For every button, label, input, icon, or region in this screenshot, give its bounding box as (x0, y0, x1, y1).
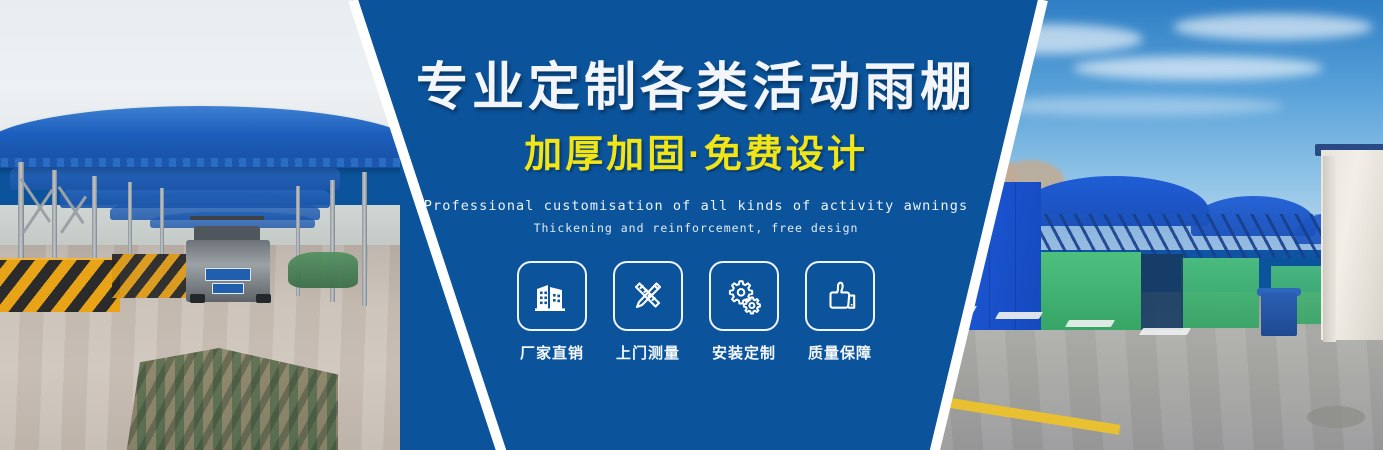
green-tarp (1029, 252, 1141, 330)
feature-icon-frame (709, 261, 779, 331)
manhole-cover (1307, 406, 1365, 428)
building-icon (532, 276, 572, 316)
subheadline-title: 加厚加固·免费设计 (524, 136, 868, 174)
license-plate (205, 268, 251, 281)
feature-label: 安装定制 (712, 342, 776, 363)
gears-icon (724, 276, 764, 316)
safety-barrier (0, 258, 120, 312)
feature-item-quality-guarantee[interactable]: 质量保障 (803, 261, 877, 363)
shaded-opening (1141, 254, 1183, 330)
feature-item-installation-custom[interactable]: 安装定制 (707, 261, 781, 363)
feature-label: 厂家直销 (520, 342, 584, 363)
road-marking (1065, 320, 1115, 327)
truck-wheel (190, 294, 205, 303)
truck-wheel (256, 294, 271, 303)
safety-barrier (112, 254, 192, 298)
feature-label: 质量保障 (808, 342, 872, 363)
blue-trash-bin (1261, 292, 1297, 336)
feature-list: 厂家直销 (515, 261, 877, 363)
green-tarp-pile (288, 252, 358, 288)
headline-title: 专业定制各类活动雨棚 (416, 62, 976, 114)
road-marking (1139, 328, 1191, 335)
awning-edge-trim (0, 158, 400, 167)
building-column (1323, 156, 1336, 342)
thumbs-up-icon (820, 276, 860, 316)
feature-icon-frame (517, 261, 587, 331)
english-tagline-primary: Professional customisation of all kinds … (424, 198, 968, 214)
truck-roof-rack (190, 216, 264, 220)
promotional-banner: 专业定制各类活动雨棚 加厚加固·免费设计 Professional custom… (0, 0, 1383, 450)
feature-item-onsite-measurement[interactable]: 上门测量 (611, 261, 685, 363)
english-tagline-secondary: Thickening and reinforcement, free desig… (534, 221, 859, 235)
cloud (1173, 14, 1373, 40)
ruler-pen-icon (628, 276, 668, 316)
feature-label: 上门测量 (616, 342, 680, 363)
banner-content: 专业定制各类活动雨棚 加厚加固·免费设计 Professional custom… (352, 0, 1040, 450)
feature-icon-frame (805, 261, 875, 331)
cloud (1073, 56, 1323, 80)
feature-icon-frame (613, 261, 683, 331)
license-plate (212, 283, 244, 294)
feature-item-factory-direct[interactable]: 厂家直销 (515, 261, 589, 363)
left-product-photo (0, 0, 400, 450)
green-tarp (1181, 258, 1259, 328)
